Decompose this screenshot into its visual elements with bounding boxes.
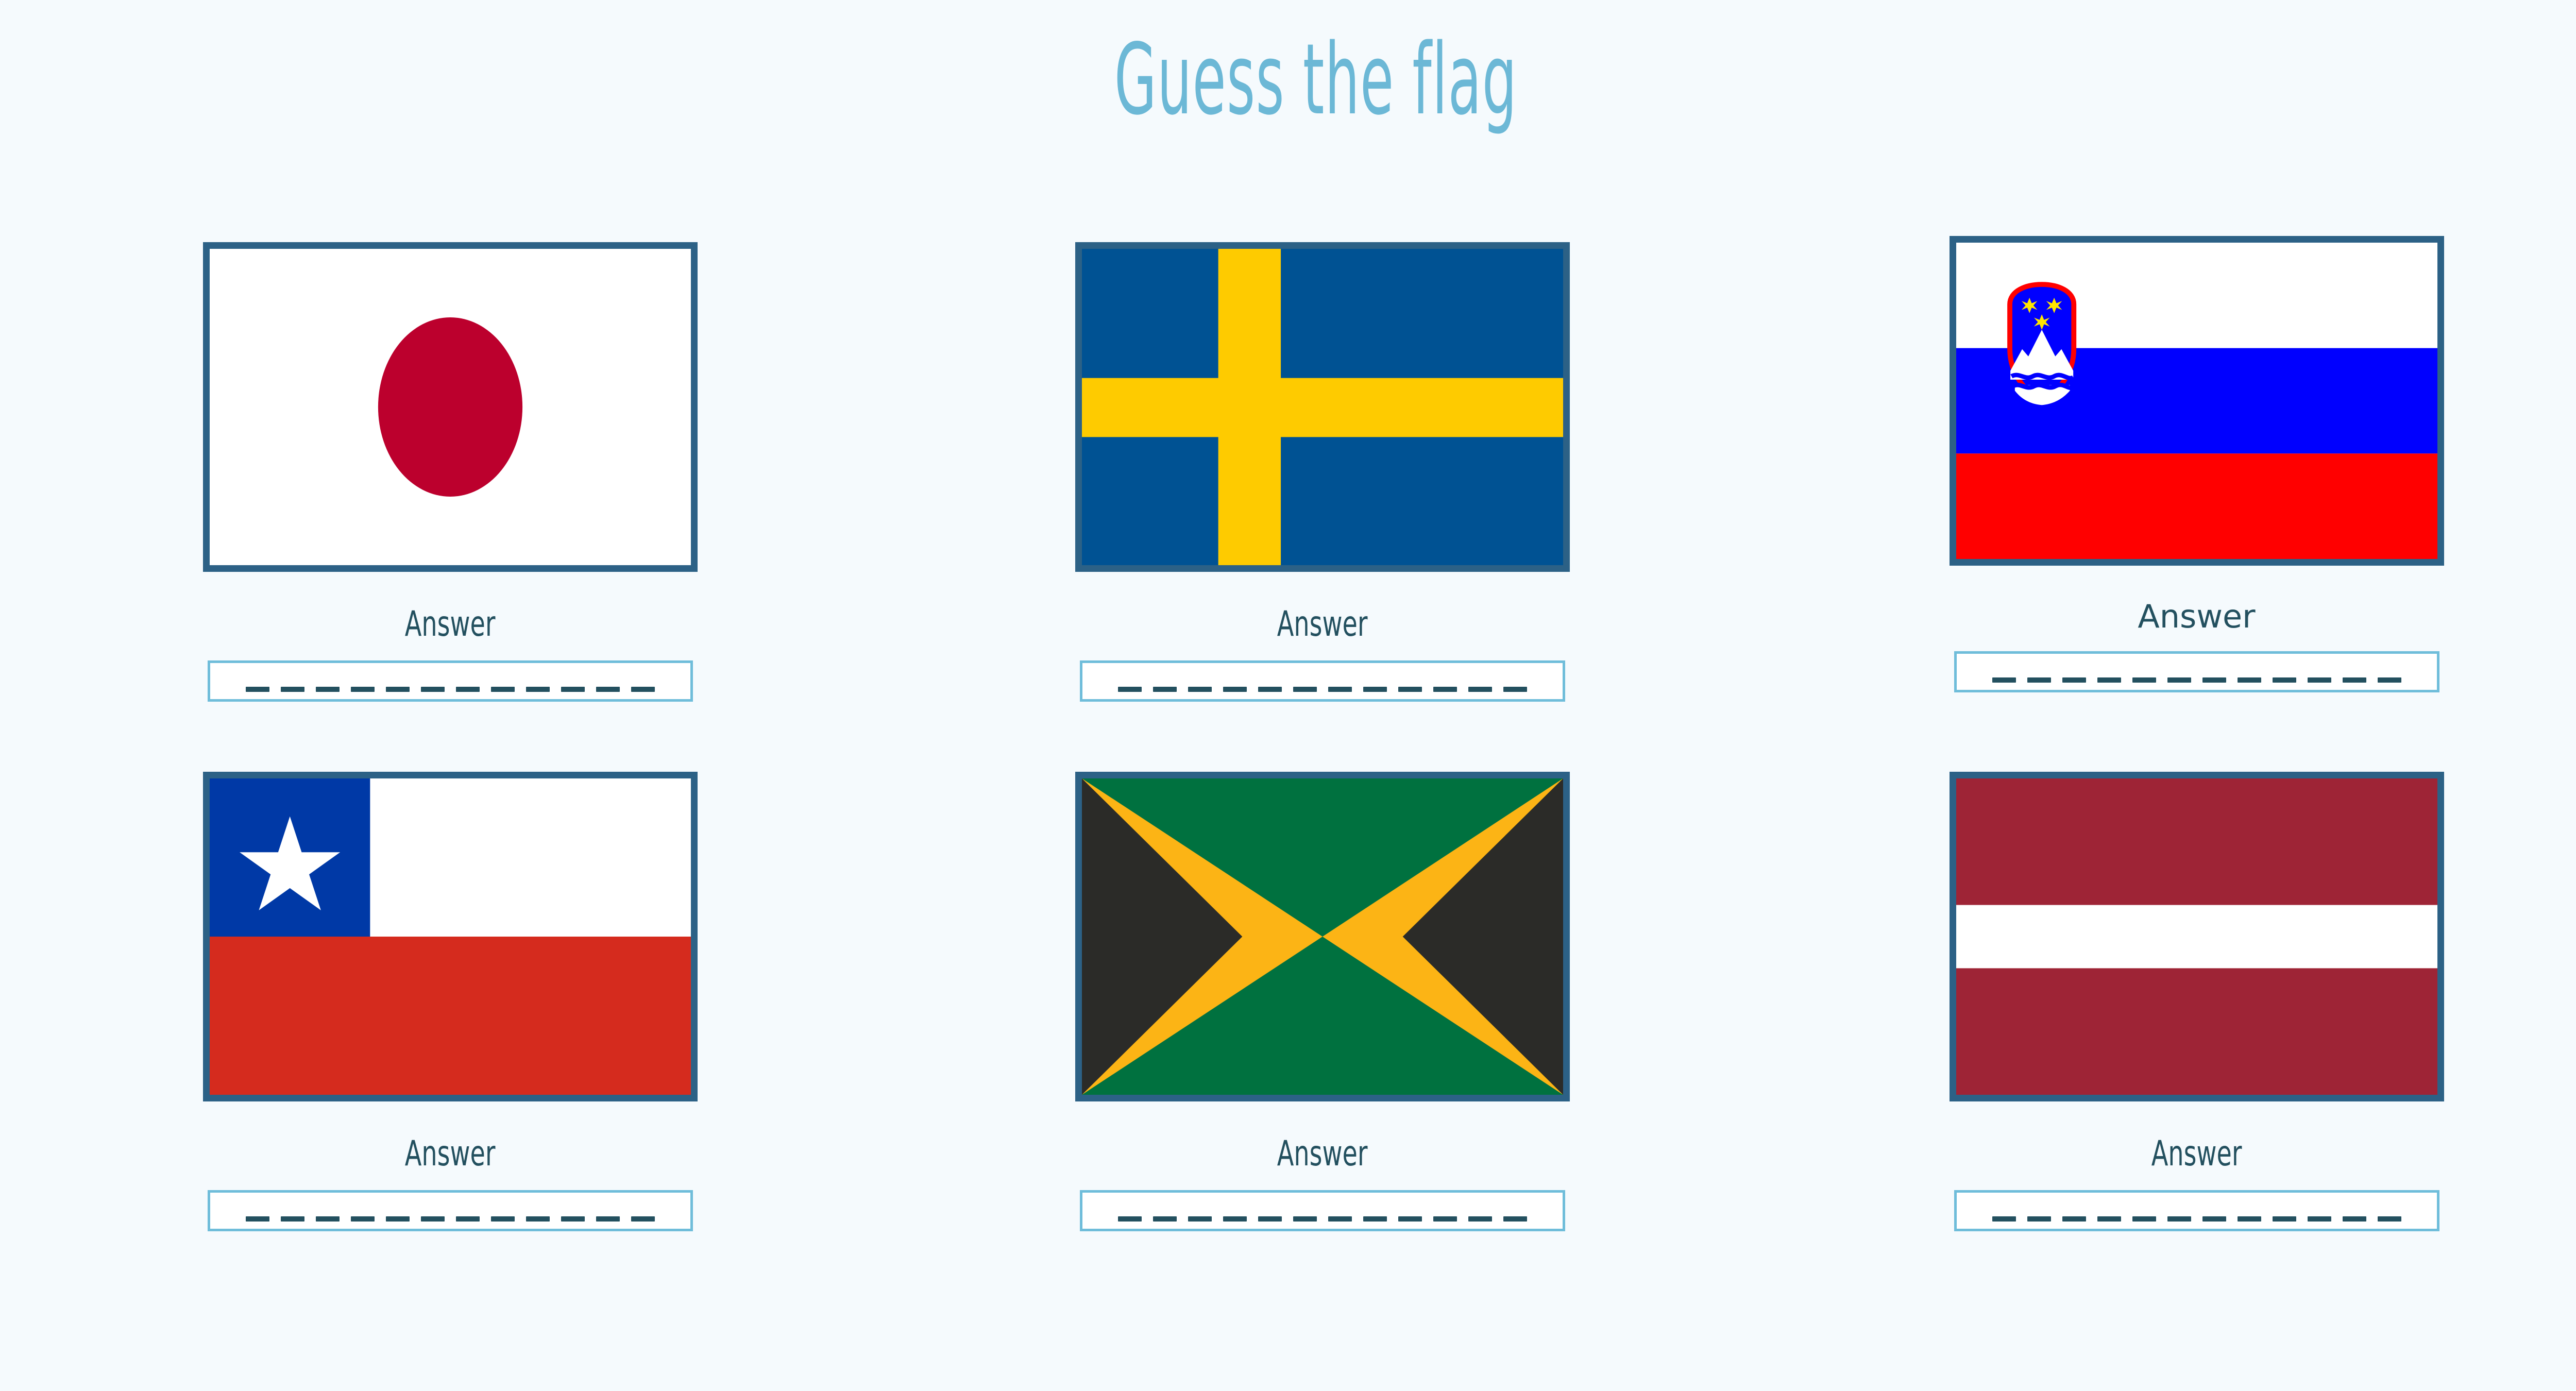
answer-dash (491, 687, 515, 692)
answer-dash (1992, 1216, 2016, 1222)
answer-dashes (1992, 677, 2401, 683)
answer-dash (1398, 1216, 1422, 1222)
chile-flag (203, 772, 698, 1101)
answer-input-box[interactable] (208, 1190, 693, 1231)
jamaica-flag-icon (1082, 778, 1563, 1095)
answer-dash (491, 1216, 515, 1222)
answer-dash (631, 1216, 655, 1222)
answer-dash (456, 687, 480, 692)
answer-dash (2202, 677, 2226, 683)
flag-card-sweden: Answer (884, 242, 1761, 768)
flag-card-japan: Answer (11, 242, 889, 768)
answer-dash (1118, 1216, 1142, 1222)
answer-dash (1293, 1216, 1317, 1222)
answer-dash (2167, 677, 2191, 683)
answer-dash (1328, 1216, 1352, 1222)
slovenia-coat-of-arms-icon (2010, 284, 2074, 405)
answer-dash (2238, 1216, 2261, 1222)
answer-dash (2132, 677, 2156, 683)
answer-dash (2378, 677, 2401, 683)
answer-dash (1363, 1216, 1387, 1222)
answer-dash (1153, 687, 1177, 692)
answer-dash (1258, 687, 1282, 692)
answer-dash (2273, 1216, 2296, 1222)
answer-label: Answer (2138, 601, 2255, 633)
answer-dash (2343, 677, 2366, 683)
answer-dash (1992, 677, 2016, 683)
answer-dash (1468, 1216, 1492, 1222)
answer-dash (1363, 687, 1387, 692)
answer-dash (1503, 687, 1527, 692)
flag-card-jamaica: Answer (884, 772, 1761, 1297)
answer-dash (2308, 1216, 2331, 1222)
answer-dash (1188, 1216, 1212, 1222)
answer-dash (1223, 687, 1247, 692)
answer-dash (2378, 1216, 2401, 1222)
answer-dashes (246, 1216, 655, 1222)
answer-dash (1433, 687, 1457, 692)
sweden-flag (1075, 242, 1570, 572)
answer-dash (2097, 1216, 2121, 1222)
answer-label: Answer (1277, 1136, 1368, 1172)
slovenia-flag-icon (1956, 243, 2437, 559)
answer-dash (351, 1216, 375, 1222)
answer-label: Answer (405, 607, 496, 642)
answer-dash (596, 687, 620, 692)
answer-label: Answer (405, 1136, 496, 1172)
answer-dash (1223, 1216, 1247, 1222)
answer-dash (561, 1216, 585, 1222)
answer-input-box[interactable] (1080, 1190, 1565, 1231)
answer-dash (2097, 677, 2121, 683)
answer-dash (1503, 1216, 1527, 1222)
japan-flag (203, 242, 698, 572)
answer-dash (316, 1216, 340, 1222)
flag-card-latvia: Answer (1758, 772, 2576, 1297)
answer-label: Answer (2151, 1136, 2242, 1172)
answer-dash (2132, 1216, 2156, 1222)
latvia-flag (1950, 772, 2444, 1101)
answer-dash (316, 687, 340, 692)
answer-input-box[interactable] (1080, 660, 1565, 702)
answer-dash (2273, 677, 2296, 683)
answer-label: Answer (1277, 607, 1368, 642)
answer-dash (2167, 1216, 2191, 1222)
answer-dash (526, 1216, 550, 1222)
answer-dash (1258, 1216, 1282, 1222)
answer-input-box[interactable] (208, 660, 693, 702)
answer-input-box[interactable] (1954, 1190, 2439, 1231)
flag-card-chile: Answer (11, 772, 889, 1297)
slovenia-flag (1950, 236, 2444, 566)
answer-dash (631, 687, 655, 692)
sweden-flag-icon (1082, 249, 1563, 565)
answer-dash (1398, 687, 1422, 692)
answer-dash (456, 1216, 480, 1222)
answer-dash (351, 687, 375, 692)
chile-flag-icon (210, 778, 691, 1095)
answer-dash (1433, 1216, 1457, 1222)
page-title: Guess the flag (500, 31, 2132, 129)
answer-dash (2343, 1216, 2366, 1222)
answer-dash (526, 687, 550, 692)
answer-input-box[interactable] (1954, 651, 2439, 692)
jamaica-flag (1075, 772, 1570, 1101)
answer-dash (386, 687, 410, 692)
answer-dash (421, 1216, 445, 1222)
answer-dash (246, 687, 269, 692)
answer-dash (1153, 1216, 1177, 1222)
flag-card-grid: Answer (0, 242, 2576, 1293)
answer-dash (2238, 677, 2261, 683)
answer-dash (1293, 687, 1317, 692)
answer-dash (2308, 677, 2331, 683)
answer-dash (2062, 677, 2086, 683)
answer-dashes (1992, 1216, 2401, 1222)
answer-dash (281, 687, 304, 692)
answer-dash (1468, 687, 1492, 692)
answer-dash (421, 687, 445, 692)
answer-dash (2062, 1216, 2086, 1222)
answer-dash (2027, 1216, 2051, 1222)
answer-dashes (1118, 687, 1527, 692)
answer-dash (1118, 687, 1142, 692)
answer-dashes (246, 687, 655, 692)
answer-dash (246, 1216, 269, 1222)
answer-dash (596, 1216, 620, 1222)
answer-dash (281, 1216, 304, 1222)
latvia-flag-icon (1956, 778, 2437, 1095)
answer-dash (1188, 687, 1212, 692)
japan-flag-icon (210, 249, 691, 565)
answer-dashes (1118, 1216, 1527, 1222)
answer-dash (2027, 677, 2051, 683)
answer-dash (2202, 1216, 2226, 1222)
answer-dash (561, 687, 585, 692)
flag-card-slovenia: Answer (1758, 236, 2576, 761)
answer-dash (386, 1216, 410, 1222)
answer-dash (1328, 687, 1352, 692)
